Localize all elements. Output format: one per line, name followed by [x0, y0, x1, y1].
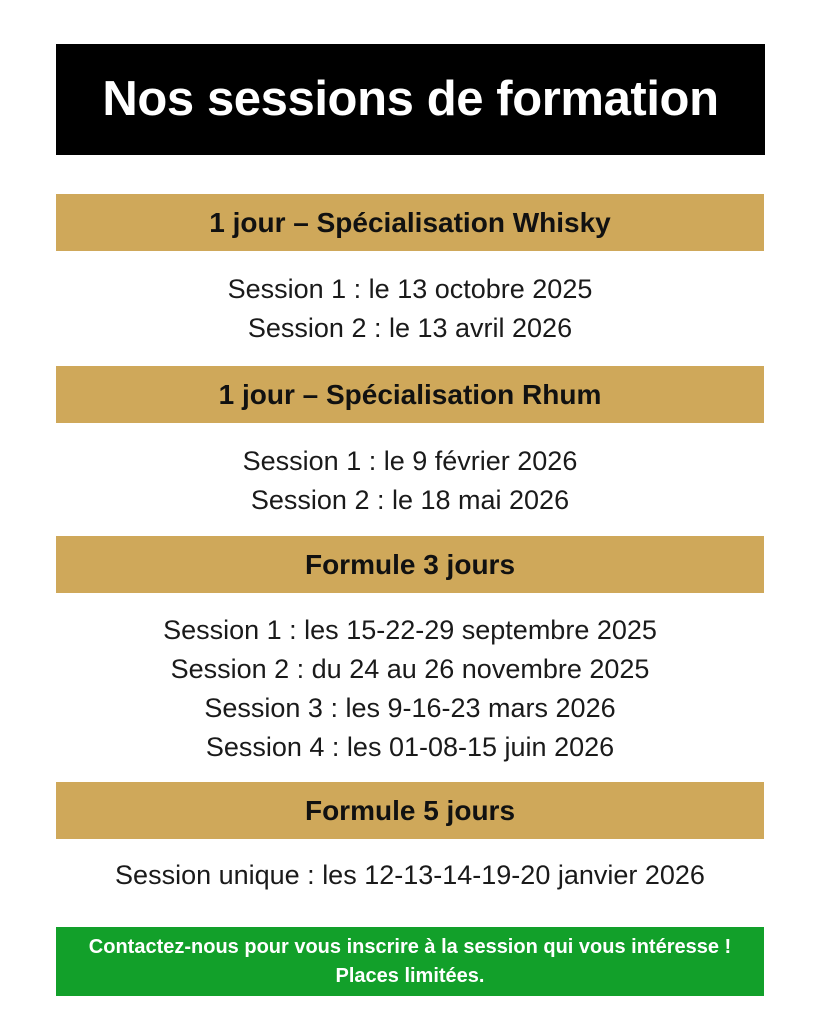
section-whisky: 1 jour – Spécialisation Whisky Session 1…	[56, 194, 764, 348]
page-title: Nos sessions de formation	[102, 75, 718, 124]
list-item: Session 2 : du 24 au 26 novembre 2025	[56, 650, 764, 689]
section-formule-5-jours-heading: Formule 5 jours	[305, 797, 515, 825]
section-whisky-session-list: Session 1 : le 13 octobre 2025 Session 2…	[56, 251, 764, 348]
list-item: Session 3 : les 9-16-23 mars 2026	[56, 689, 764, 728]
contact-cta-line-1: Contactez-nous pour vous inscrire à la s…	[89, 933, 731, 962]
section-formule-3-jours-banner: Formule 3 jours	[56, 536, 764, 593]
list-item: Session 1 : les 15-22-29 septembre 2025	[56, 611, 764, 650]
contact-cta-banner: Contactez-nous pour vous inscrire à la s…	[56, 927, 764, 996]
training-sessions-poster: Nos sessions de formation 1 jour – Spéci…	[0, 0, 819, 1024]
list-item: Session 2 : le 18 mai 2026	[56, 481, 764, 520]
list-item: Session 2 : le 13 avril 2026	[56, 309, 764, 348]
section-formule-5-jours: Formule 5 jours Session unique : les 12-…	[56, 782, 764, 895]
list-item: Session 4 : les 01-08-15 juin 2026	[56, 728, 764, 767]
section-formule-3-jours: Formule 3 jours Session 1 : les 15-22-29…	[56, 536, 764, 767]
contact-cta-line-2: Places limitées.	[336, 962, 485, 991]
poster-title-banner: Nos sessions de formation	[56, 44, 765, 155]
list-item: Session 1 : le 9 février 2026	[56, 442, 764, 481]
section-rhum: 1 jour – Spécialisation Rhum Session 1 :…	[56, 366, 764, 520]
section-whisky-banner: 1 jour – Spécialisation Whisky	[56, 194, 764, 251]
section-formule-5-jours-session-list: Session unique : les 12-13-14-19-20 janv…	[56, 839, 764, 895]
section-rhum-session-list: Session 1 : le 9 février 2026 Session 2 …	[56, 423, 764, 520]
section-rhum-heading: 1 jour – Spécialisation Rhum	[219, 381, 602, 409]
section-whisky-heading: 1 jour – Spécialisation Whisky	[209, 209, 610, 237]
section-formule-5-jours-banner: Formule 5 jours	[56, 782, 764, 839]
section-formule-3-jours-session-list: Session 1 : les 15-22-29 septembre 2025 …	[56, 593, 764, 767]
list-item: Session 1 : le 13 octobre 2025	[56, 270, 764, 309]
section-rhum-banner: 1 jour – Spécialisation Rhum	[56, 366, 764, 423]
section-formule-3-jours-heading: Formule 3 jours	[305, 551, 515, 579]
list-item: Session unique : les 12-13-14-19-20 janv…	[56, 856, 764, 895]
